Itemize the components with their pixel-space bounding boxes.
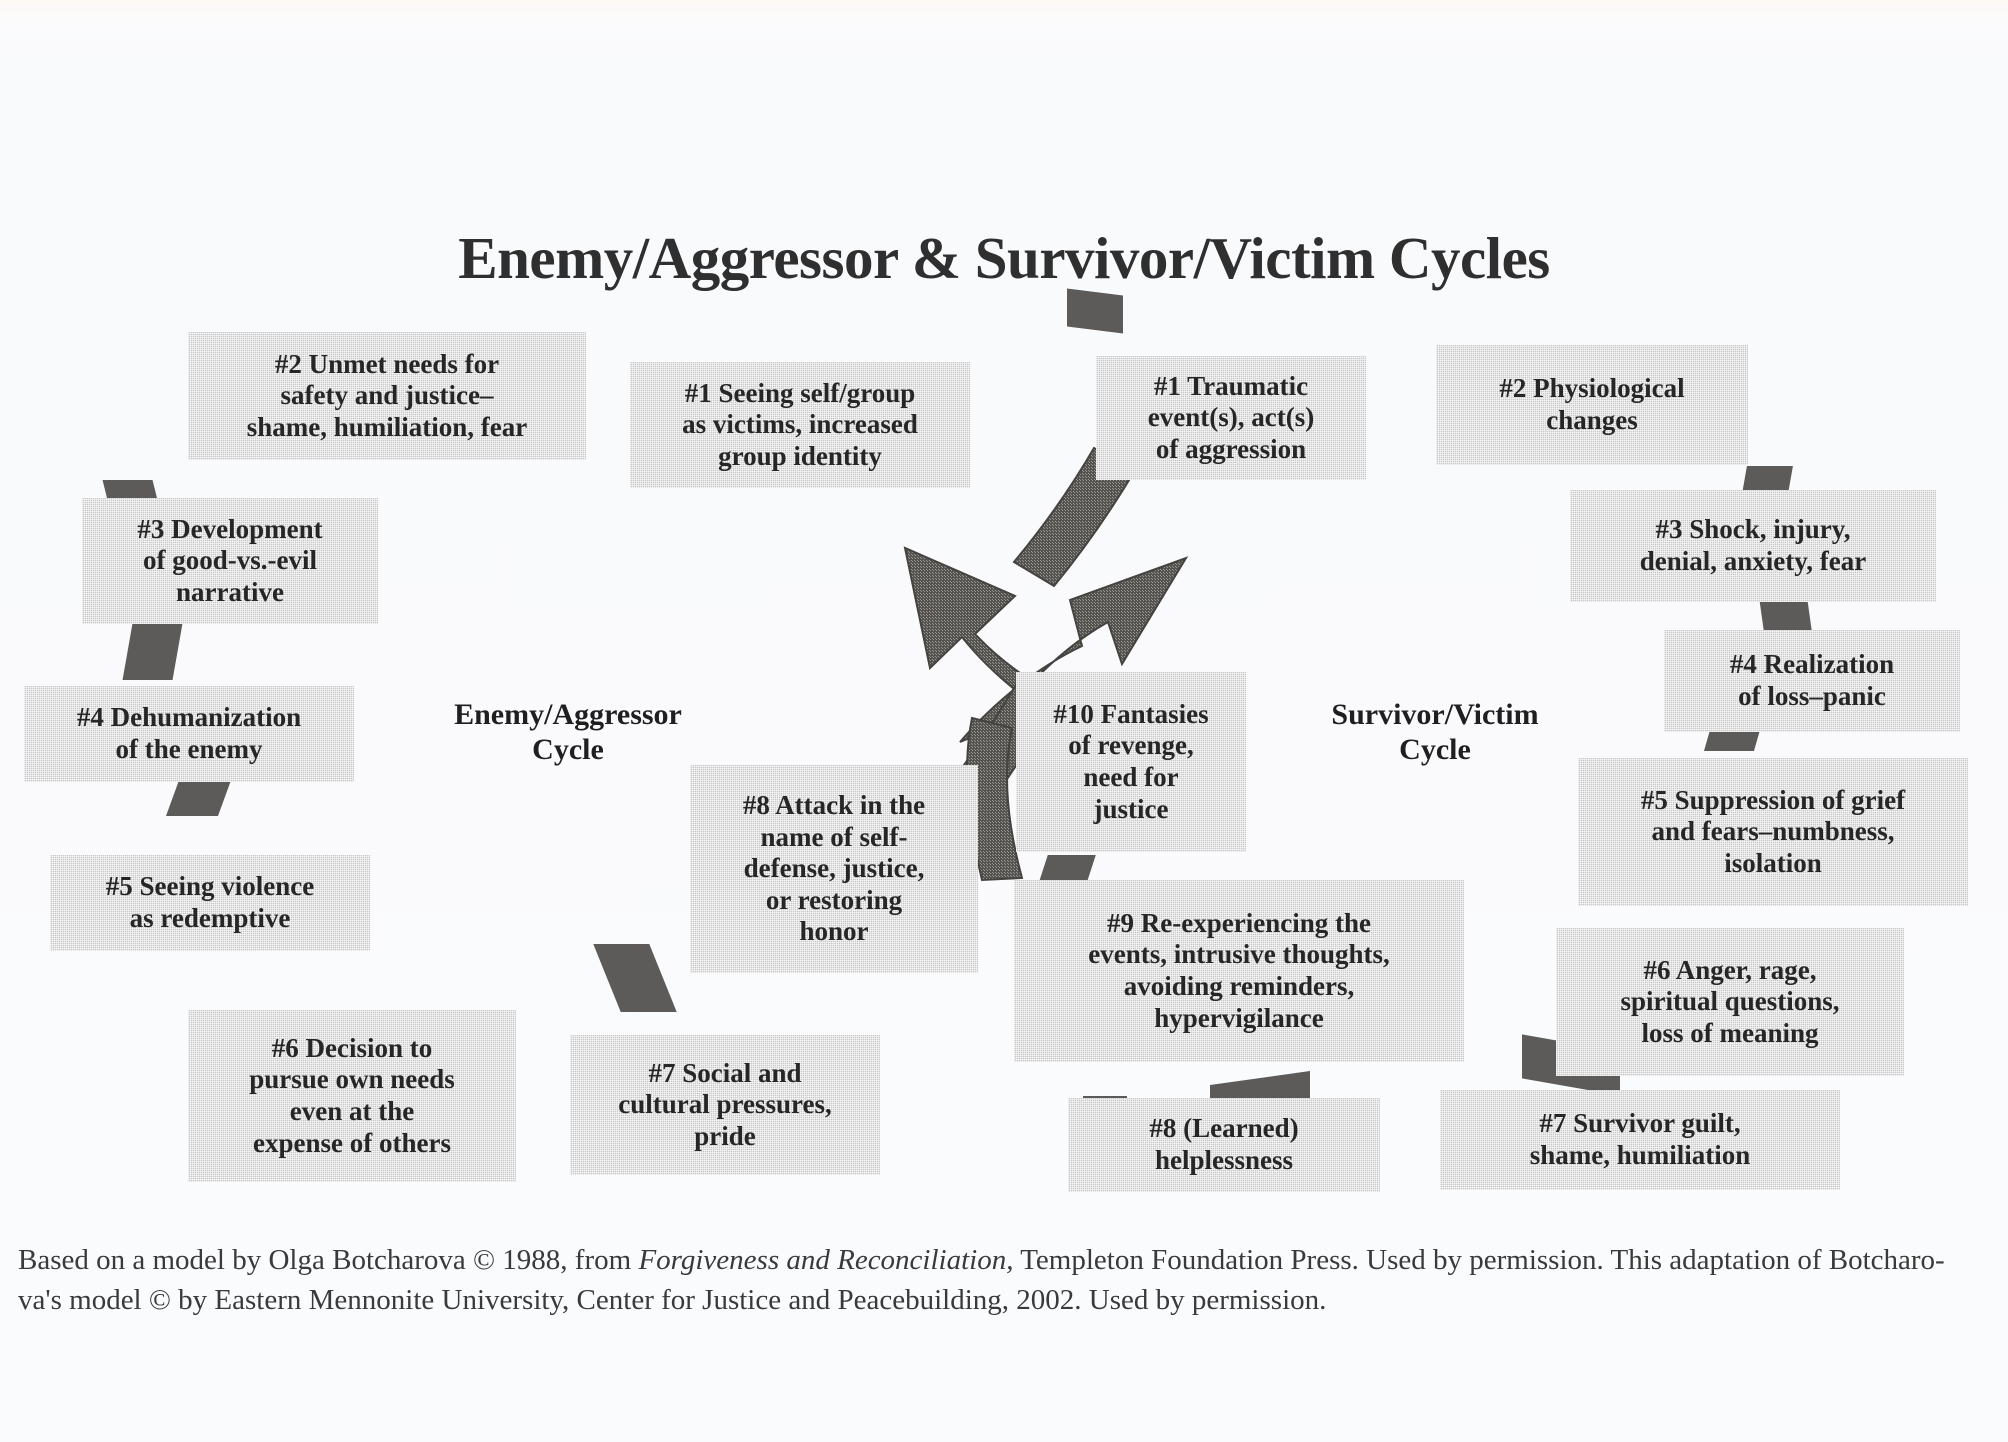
cycle-label-enemy-line1: Enemy/Aggressor bbox=[408, 698, 728, 733]
node-sv6-label: #6 Anger, rage,spiritual questions,loss … bbox=[1564, 955, 1896, 1050]
node-ea4-label: #4 Dehumanizationof the enemy bbox=[32, 702, 346, 765]
node-ea3-good-vs-evil[interactable]: #3 Developmentof good-vs.-evilnarrative bbox=[82, 498, 378, 624]
node-sv9-label: #9 Re-experiencing theevents, intrusive … bbox=[1022, 908, 1456, 1034]
node-ea7-label: #7 Social andcultural pressures,pride bbox=[578, 1058, 872, 1153]
cycle-label-survivor-line1: Survivor/Victim bbox=[1290, 698, 1580, 733]
caption-part1: Based on a model by Olga Botcharova © 19… bbox=[18, 1244, 638, 1276]
node-sv10-label: #10 Fantasiesof revenge,need forjustice bbox=[1024, 699, 1238, 825]
node-sv4-label: #4 Realizationof loss–panic bbox=[1672, 649, 1952, 712]
node-ea5-seeing-violence[interactable]: #5 Seeing violenceas redemptive bbox=[50, 855, 370, 951]
node-sv3-shock-injury[interactable]: #3 Shock, injury,denial, anxiety, fear bbox=[1570, 490, 1936, 602]
node-ea2-label: #2 Unmet needs forsafety and justice–sha… bbox=[196, 349, 578, 444]
node-sv5-label: #5 Suppression of griefand fears–numbnes… bbox=[1586, 785, 1960, 880]
node-ea4-dehumanization[interactable]: #4 Dehumanizationof the enemy bbox=[24, 686, 354, 782]
page-title: Enemy/Aggressor & Survivor/Victim Cycles bbox=[0, 224, 2008, 293]
node-sv6-anger-rage[interactable]: #6 Anger, rage,spiritual questions,loss … bbox=[1556, 928, 1904, 1076]
source-caption: Based on a model by Olga Botcharova © 19… bbox=[18, 1240, 1994, 1320]
node-sv1-label: #1 Traumaticevent(s), act(s)of aggressio… bbox=[1104, 371, 1358, 466]
node-ea1-seeing-self-group[interactable]: #1 Seeing self/groupas victims, increase… bbox=[630, 362, 970, 488]
node-ea3-label: #3 Developmentof good-vs.-evilnarrative bbox=[90, 514, 370, 609]
node-sv8-learned-helplessness[interactable]: #8 (Learned)helplessness bbox=[1068, 1098, 1380, 1192]
caption-part2: Templeton Foundation Press. Used by perm… bbox=[1013, 1244, 1944, 1276]
node-sv2-label: #2 Physiologicalchanges bbox=[1444, 373, 1740, 436]
cycle-label-survivor-line2: Cycle bbox=[1290, 733, 1580, 768]
node-sv4-realization-of-loss[interactable]: #4 Realizationof loss–panic bbox=[1664, 630, 1960, 732]
node-ea6-decision-own-needs[interactable]: #6 Decision topursue own needseven at th… bbox=[188, 1010, 516, 1182]
node-sv9-re-experiencing[interactable]: #9 Re-experiencing theevents, intrusive … bbox=[1014, 880, 1464, 1062]
node-sv8-label: #8 (Learned)helplessness bbox=[1076, 1113, 1372, 1176]
node-sv7-survivor-guilt[interactable]: #7 Survivor guilt,shame, humiliation bbox=[1440, 1090, 1840, 1190]
connector-sv1-sv2 bbox=[1067, 289, 1123, 334]
node-sv5-suppression-of-grief[interactable]: #5 Suppression of griefand fears–numbnes… bbox=[1578, 758, 1968, 906]
node-ea8-attack[interactable]: #8 Attack in thename of self-defense, ju… bbox=[690, 765, 978, 973]
node-sv2-physiological-changes[interactable]: #2 Physiologicalchanges bbox=[1436, 345, 1748, 465]
node-sv7-label: #7 Survivor guilt,shame, humiliation bbox=[1448, 1108, 1832, 1171]
connector-ea4-ea5 bbox=[123, 618, 184, 680]
connector-ea7-ea8 bbox=[593, 944, 676, 1012]
node-sv3-label: #3 Shock, injury,denial, anxiety, fear bbox=[1578, 514, 1928, 577]
node-ea7-social-cultural-pressures[interactable]: #7 Social andcultural pressures,pride bbox=[570, 1035, 880, 1175]
node-ea1-label: #1 Seeing self/groupas victims, increase… bbox=[638, 378, 962, 473]
node-ea2-unmet-needs[interactable]: #2 Unmet needs forsafety and justice–sha… bbox=[188, 332, 586, 460]
node-ea6-label: #6 Decision topursue own needseven at th… bbox=[196, 1033, 508, 1159]
node-sv1-traumatic-event[interactable]: #1 Traumaticevent(s), act(s)of aggressio… bbox=[1096, 356, 1366, 480]
caption-italic-title: Forgiveness and Reconciliation, bbox=[638, 1244, 1013, 1276]
cycle-label-enemy-aggressor: Enemy/Aggressor Cycle bbox=[408, 698, 728, 768]
node-ea8-label: #8 Attack in thename of self-defense, ju… bbox=[698, 790, 970, 948]
cycle-label-enemy-line2: Cycle bbox=[408, 733, 728, 768]
node-ea5-label: #5 Seeing violenceas redemptive bbox=[58, 871, 362, 934]
cycle-label-survivor-victim: Survivor/Victim Cycle bbox=[1290, 698, 1580, 768]
node-sv10-fantasies-of-revenge[interactable]: #10 Fantasiesof revenge,need forjustice bbox=[1016, 672, 1246, 852]
caption-part3: va's model © by Eastern Mennonite Univer… bbox=[18, 1284, 1326, 1316]
diagram-page: Enemy/Aggressor & Survivor/Victim Cycles bbox=[0, 0, 2008, 1442]
